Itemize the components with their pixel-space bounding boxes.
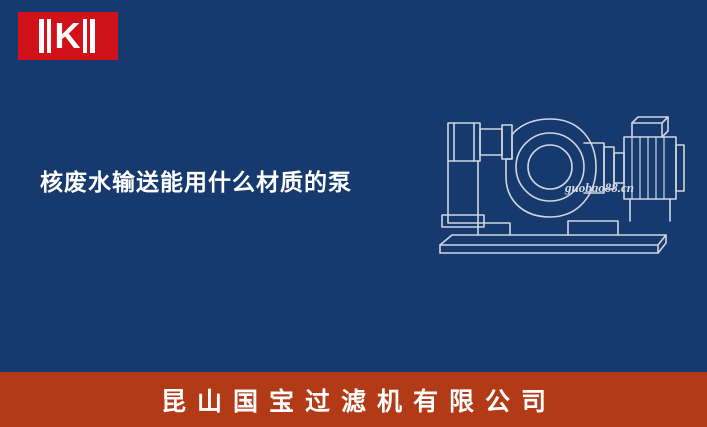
- pump-suction-neck: [480, 129, 502, 155]
- logo-stripe-1: [39, 19, 44, 53]
- pump-suction-flange-lines: [454, 123, 474, 161]
- motor-feet: [630, 199, 670, 221]
- site-watermark: guobao88.cn: [565, 180, 634, 196]
- motor-terminal-box: [632, 123, 662, 137]
- guobao-k-logo: K: [18, 12, 118, 60]
- pump-suction-collar: [502, 125, 512, 159]
- pump-foot-right: [568, 221, 618, 235]
- motor-end-cap: [676, 145, 684, 191]
- pump-base-edge: [440, 245, 658, 253]
- pump-base-plate: [440, 235, 666, 245]
- pump-suction-flange: [448, 123, 480, 161]
- company-name: 昆山国宝过滤机有限公司: [150, 382, 557, 418]
- logo-stripe-3: [83, 19, 87, 53]
- headline-text: 核废水输送能用什么材质的泵: [40, 163, 352, 197]
- pump-foot-left: [478, 223, 510, 235]
- logo-stripe-4: [90, 19, 95, 53]
- logo-stripe-2: [47, 19, 51, 53]
- pump-discharge-pipe-outer: [448, 161, 478, 223]
- promo-banner: K 核废水输送能用什么材质的泵: [0, 0, 707, 427]
- pump-coupling-guard: [614, 153, 624, 183]
- footer-bar: 昆山国宝过滤机有限公司: [0, 372, 707, 427]
- logo-letter: K: [55, 19, 80, 53]
- motor-cooling-fins: [632, 137, 664, 199]
- logo-inner: K: [39, 19, 98, 53]
- centrifugal-pump-illustration: [418, 95, 690, 270]
- motor-terminal-box-top: [632, 117, 668, 123]
